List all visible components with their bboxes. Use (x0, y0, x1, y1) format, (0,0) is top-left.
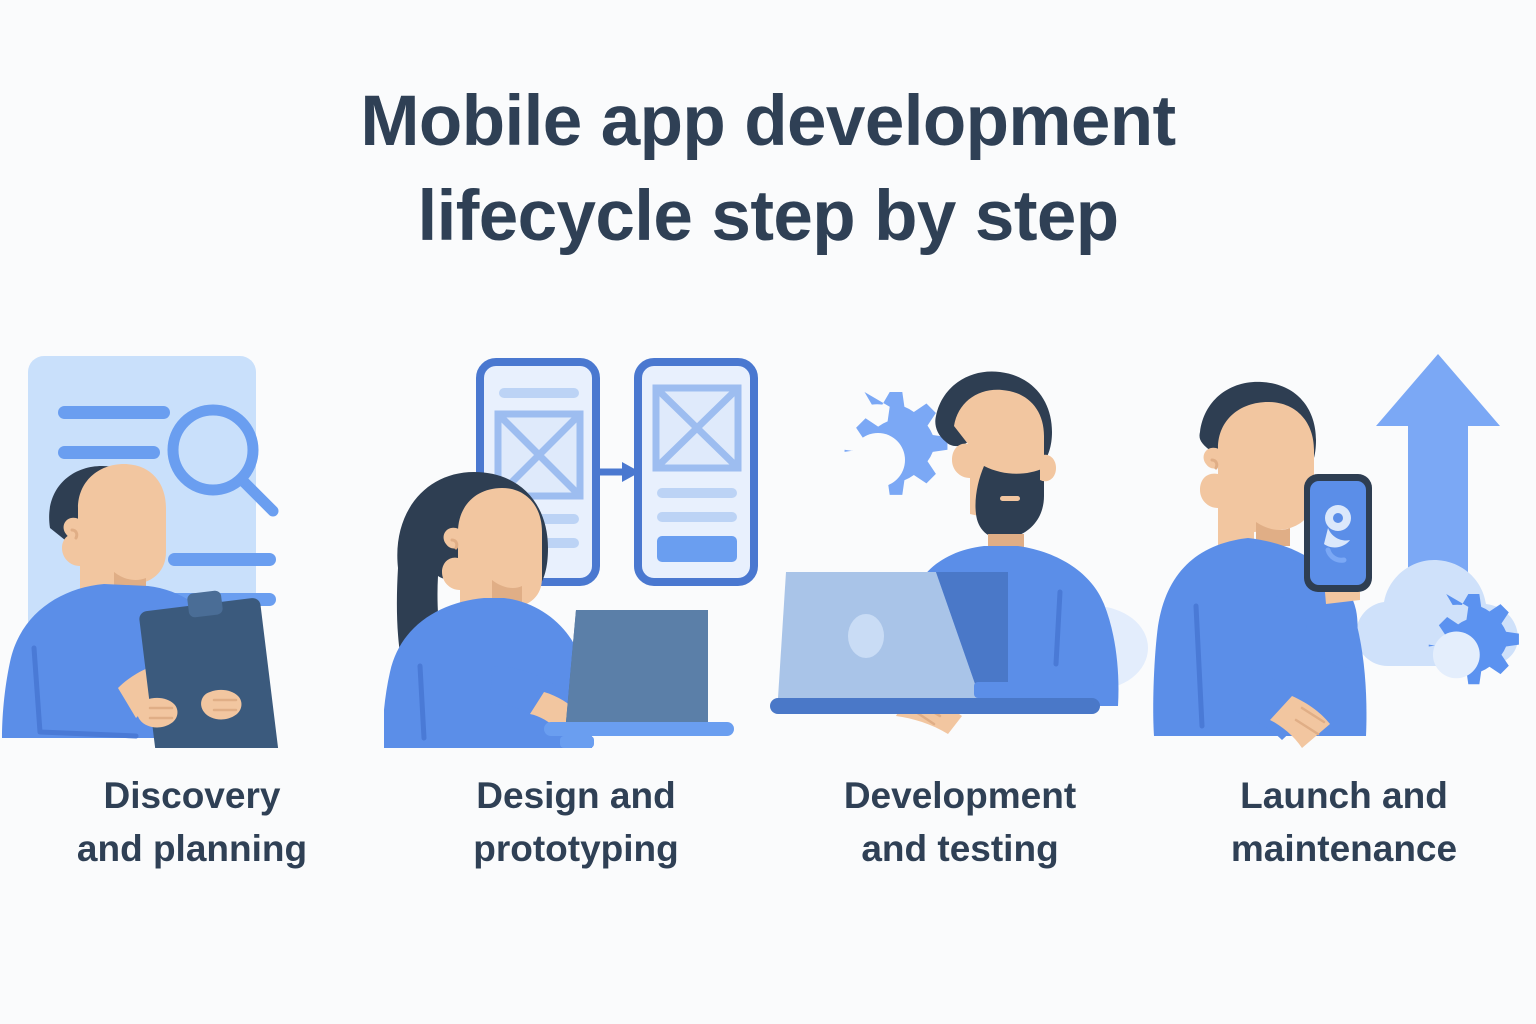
design-prototyping-illustration (384, 348, 768, 748)
development-testing-illustration (768, 348, 1152, 748)
title-line-1: Mobile app development (0, 74, 1536, 169)
gear-icon (845, 392, 948, 495)
wireframe-screen-icon (638, 362, 754, 582)
step-caption: Launch and maintenance (1231, 770, 1457, 875)
step-launch-and-maintenance[interactable]: Launch and maintenance (1152, 348, 1536, 908)
laptop-icon (544, 610, 734, 748)
step-design-and-prototyping[interactable]: Design and prototyping (384, 348, 768, 908)
launch-maintenance-illustration (1152, 348, 1536, 748)
step-discovery-and-planning[interactable]: Discovery and planning (0, 348, 384, 908)
lifecycle-steps-row: Discovery and planning (0, 348, 1536, 908)
step-caption: Development and testing (844, 770, 1076, 875)
discovery-planning-illustration (0, 348, 384, 748)
page-title: Mobile app development lifecycle step by… (0, 74, 1536, 264)
flow-arrow-icon (598, 462, 640, 482)
step-caption: Discovery and planning (77, 770, 307, 875)
location-pin-icon (1324, 505, 1351, 547)
step-caption: Design and prototyping (473, 770, 679, 875)
infographic-canvas: Mobile app development lifecycle step by… (0, 0, 1536, 1024)
step-development-and-testing[interactable]: Development and testing (768, 348, 1152, 908)
up-arrow-icon (1376, 354, 1500, 586)
smartphone-icon (1304, 474, 1372, 592)
title-line-2: lifecycle step by step (0, 169, 1536, 264)
